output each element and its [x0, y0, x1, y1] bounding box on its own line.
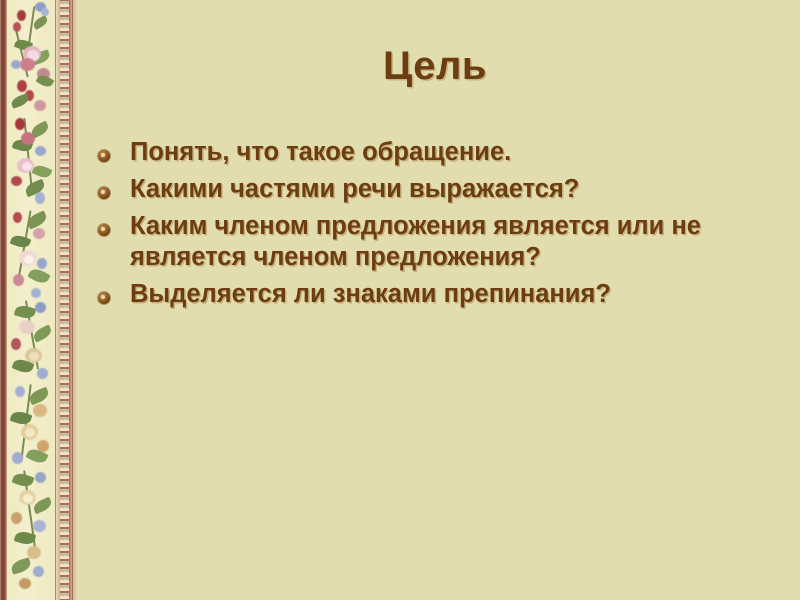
bead-hairline-right	[72, 0, 73, 600]
floral-border-ornament	[0, 0, 79, 600]
slide-title: Цель	[90, 44, 780, 89]
list-item-text: Выделяется ли знаками препинания?	[130, 280, 611, 308]
slide-canvas: Цель Понять, что такое обращение. Какими…	[0, 0, 800, 600]
list-item-text: Понять, что такое обращение.	[130, 138, 511, 166]
bullet-disc-icon	[98, 187, 110, 199]
border-edge-stripe	[0, 0, 7, 600]
list-item: Какими частями речи выражается?	[96, 174, 736, 205]
list-item: Понять, что такое обращение.	[96, 137, 736, 168]
list-item-text: Каким членом предложения является или не…	[130, 212, 701, 271]
floral-painting	[7, 0, 55, 600]
bullet-disc-icon	[98, 224, 110, 236]
bullet-disc-icon	[98, 292, 110, 304]
bullet-list: Понять, что такое обращение. Какими част…	[96, 137, 736, 317]
bead-hairline-left	[55, 0, 56, 600]
list-item: Каким членом предложения является или не…	[96, 211, 736, 273]
beaded-rope-dots	[60, 0, 69, 600]
bullet-disc-icon	[98, 150, 110, 162]
list-item-text: Какими частями речи выражается?	[130, 175, 579, 203]
list-item: Выделяется ли знаками препинания?	[96, 279, 736, 310]
